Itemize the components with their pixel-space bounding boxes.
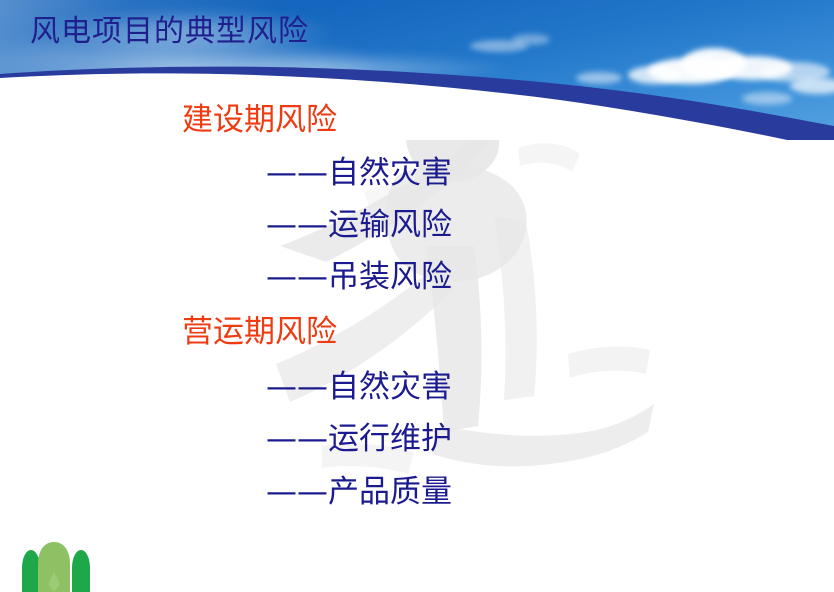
list-item-construction-natural-disaster: ——自然灾害 [266, 158, 452, 189]
list-item-operation-maintenance: ——运行维护 [266, 424, 452, 455]
leaf-right-icon [72, 550, 90, 592]
slide-body: 建设期风险 ——自然灾害 ——运输风险 ——吊装风险 营运期风险 ——自然灾害 … [0, 0, 834, 592]
leaf-left-icon [22, 550, 40, 592]
list-item-construction-hoisting-risk: ——吊装风险 [266, 262, 452, 293]
section-heading-operation: 营运期风险 [182, 317, 337, 348]
list-item-construction-transport-risk: ——运输风险 [266, 210, 452, 241]
section-heading-construction: 建设期风险 [182, 105, 337, 136]
slide-canvas: 风电项目的典型风险 建设期风险 ——自然灾害 ——运输风险 ——吊装风险 营运期… [0, 0, 834, 592]
list-item-operation-natural-disaster: ——自然灾害 [266, 372, 452, 403]
green-leaves-decoration [12, 542, 112, 592]
list-item-operation-product-quality: ——产品质量 [266, 477, 452, 508]
